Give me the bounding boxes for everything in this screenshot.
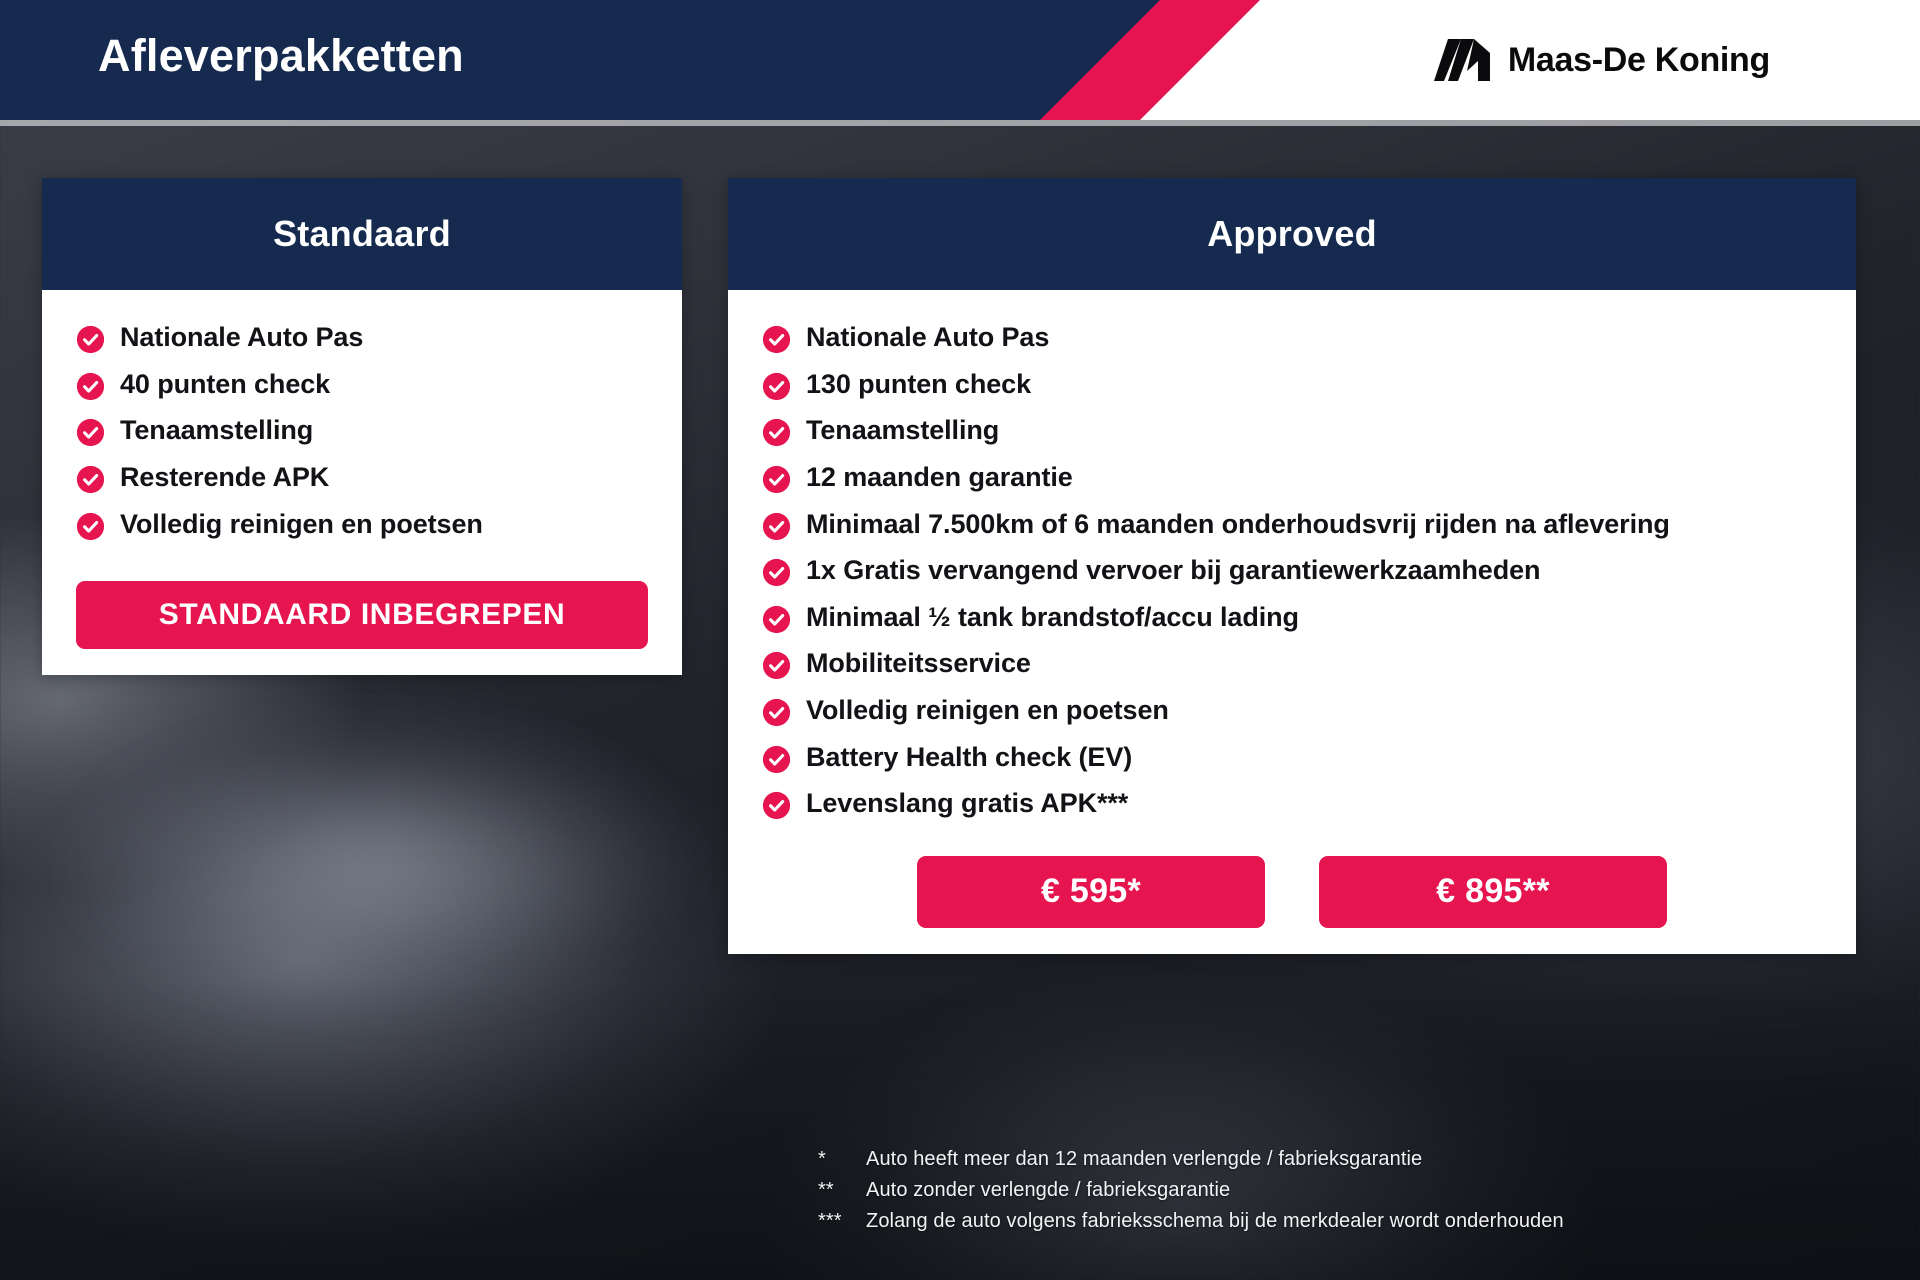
feature-item: 12 maanden garantie bbox=[762, 460, 1822, 496]
page-header: Afleverpakketten Maas-De Koning bbox=[0, 0, 1920, 120]
check-circle-icon bbox=[762, 791, 791, 820]
footnote-row: ***Zolang de auto volgens fabrieksschema… bbox=[818, 1210, 1818, 1233]
feature-label: Nationale Auto Pas bbox=[120, 320, 363, 356]
feature-label: Volledig reinigen en poetsen bbox=[120, 507, 483, 543]
check-circle-icon bbox=[762, 372, 791, 401]
footnote-row: *Auto heeft meer dan 12 maanden verlengd… bbox=[818, 1148, 1818, 1171]
check-circle-icon bbox=[76, 418, 105, 447]
check-circle-icon bbox=[76, 465, 105, 494]
feature-label: Resterende APK bbox=[120, 460, 329, 496]
standard-card-title: Standaard bbox=[273, 213, 451, 255]
check-circle-icon bbox=[762, 745, 791, 774]
footnote-marker: *** bbox=[818, 1210, 866, 1233]
page-title: Afleverpakketten bbox=[98, 0, 464, 120]
footnote-marker: ** bbox=[818, 1179, 866, 1202]
poster-page: Afleverpakketten Maas-De Koning Standaar… bbox=[0, 0, 1920, 1280]
approved-feature-list: Nationale Auto Pas130 punten checkTenaam… bbox=[762, 320, 1822, 822]
footnote-text: Auto heeft meer dan 12 maanden verlengde… bbox=[866, 1148, 1422, 1171]
feature-label: Nationale Auto Pas bbox=[806, 320, 1049, 356]
check-circle-icon bbox=[762, 512, 791, 541]
standard-feature-list: Nationale Auto Pas40 punten checkTenaams… bbox=[76, 320, 648, 542]
standard-included-button[interactable]: STANDAARD INBEGREPEN bbox=[76, 581, 648, 649]
feature-item: Levenslang gratis APK*** bbox=[762, 786, 1822, 822]
feature-item: Minimaal ½ tank brandstof/accu lading bbox=[762, 600, 1822, 636]
feature-label: Minimaal ½ tank brandstof/accu lading bbox=[806, 600, 1299, 636]
check-circle-icon bbox=[76, 512, 105, 541]
feature-label: 130 punten check bbox=[806, 367, 1031, 403]
standard-card-body: Nationale Auto Pas40 punten checkTenaams… bbox=[42, 290, 682, 675]
check-circle-icon bbox=[762, 418, 791, 447]
approved-card-body: Nationale Auto Pas130 punten checkTenaam… bbox=[728, 290, 1856, 954]
feature-label: Battery Health check (EV) bbox=[806, 740, 1132, 776]
feature-item: Battery Health check (EV) bbox=[762, 740, 1822, 776]
footnote-marker: * bbox=[818, 1148, 866, 1171]
header-divider bbox=[0, 120, 1920, 126]
footnotes: *Auto heeft meer dan 12 maanden verlengd… bbox=[818, 1148, 1818, 1241]
feature-label: Tenaamstelling bbox=[806, 413, 999, 449]
footnote-text: Auto zonder verlengde / fabrieksgarantie bbox=[866, 1179, 1230, 1202]
maas-de-koning-m-logo-icon bbox=[1434, 35, 1490, 85]
feature-item: 40 punten check bbox=[76, 367, 648, 403]
feature-item: 130 punten check bbox=[762, 367, 1822, 403]
footnote-text: Zolang de auto volgens fabrieksschema bi… bbox=[866, 1210, 1564, 1233]
feature-item: Tenaamstelling bbox=[762, 413, 1822, 449]
check-circle-icon bbox=[762, 605, 791, 634]
feature-item: Minimaal 7.500km of 6 maanden onderhouds… bbox=[762, 507, 1822, 543]
feature-item: Volledig reinigen en poetsen bbox=[76, 507, 648, 543]
footnote-row: **Auto zonder verlengde / fabrieksgarant… bbox=[818, 1179, 1818, 1202]
check-circle-icon bbox=[762, 651, 791, 680]
approved-price-row: € 595*€ 895** bbox=[762, 856, 1822, 928]
feature-label: 40 punten check bbox=[120, 367, 330, 403]
check-circle-icon bbox=[762, 558, 791, 587]
check-circle-icon bbox=[76, 325, 105, 354]
feature-label: Tenaamstelling bbox=[120, 413, 313, 449]
price-button[interactable]: € 595* bbox=[917, 856, 1265, 928]
feature-label: 12 maanden garantie bbox=[806, 460, 1073, 496]
brand-name: Maas-De Koning bbox=[1508, 41, 1770, 80]
check-circle-icon bbox=[762, 465, 791, 494]
approved-card-header: Approved bbox=[728, 178, 1856, 290]
feature-item: Volledig reinigen en poetsen bbox=[762, 693, 1822, 729]
feature-label: Minimaal 7.500km of 6 maanden onderhouds… bbox=[806, 507, 1670, 543]
approved-card-title: Approved bbox=[1207, 213, 1377, 255]
standard-card-header: Standaard bbox=[42, 178, 682, 290]
check-circle-icon bbox=[762, 325, 791, 354]
feature-item: Tenaamstelling bbox=[76, 413, 648, 449]
check-circle-icon bbox=[762, 698, 791, 727]
feature-label: Mobiliteitsservice bbox=[806, 646, 1031, 682]
standard-package-card: Standaard Nationale Auto Pas40 punten ch… bbox=[42, 178, 682, 675]
price-button[interactable]: € 895** bbox=[1319, 856, 1667, 928]
feature-item: Nationale Auto Pas bbox=[762, 320, 1822, 356]
check-circle-icon bbox=[76, 372, 105, 401]
feature-item: 1x Gratis vervangend vervoer bij garanti… bbox=[762, 553, 1822, 589]
feature-item: Nationale Auto Pas bbox=[76, 320, 648, 356]
brand-logo: Maas-De Koning bbox=[1434, 0, 1770, 120]
feature-item: Resterende APK bbox=[76, 460, 648, 496]
approved-package-card: Approved Nationale Auto Pas130 punten ch… bbox=[728, 178, 1856, 954]
feature-label: Volledig reinigen en poetsen bbox=[806, 693, 1169, 729]
feature-item: Mobiliteitsservice bbox=[762, 646, 1822, 682]
feature-label: Levenslang gratis APK*** bbox=[806, 786, 1128, 822]
feature-label: 1x Gratis vervangend vervoer bij garanti… bbox=[806, 553, 1540, 589]
